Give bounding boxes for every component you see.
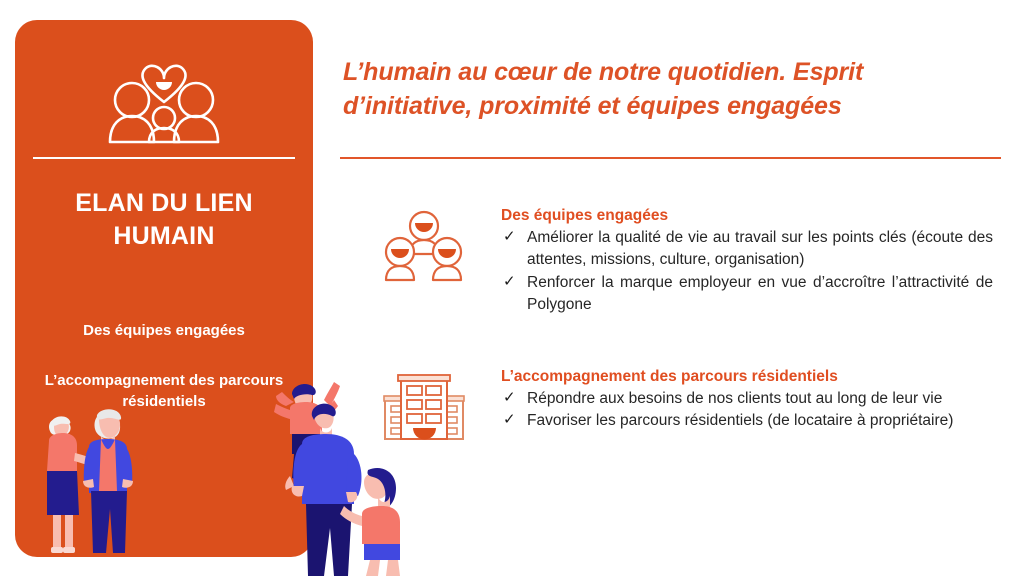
- header-divider: [340, 157, 1001, 159]
- content-block-body: Des équipes engagées ✓ Améliorer la qual…: [483, 206, 993, 316]
- family-heart-icon: [15, 42, 313, 146]
- slide-canvas: ELAN DU LIEN HUMAIN Des équipes engagées…: [0, 0, 1024, 576]
- list-item: ✓ Renforcer la marque employeur en vue d…: [501, 272, 993, 317]
- sidebar-card: ELAN DU LIEN HUMAIN Des équipes engagées…: [15, 20, 313, 557]
- list-item-text: Renforcer la marque employeur en vue d’a…: [527, 274, 993, 313]
- content-block-body: L’accompagnement des parcours résidentie…: [483, 367, 993, 433]
- sidebar-title: ELAN DU LIEN HUMAIN: [41, 187, 287, 254]
- sidebar-subtitle-1: Des équipes engagées: [35, 322, 293, 339]
- check-icon: ✓: [503, 271, 516, 293]
- section-title-teams: Des équipes engagées: [501, 206, 993, 226]
- three-people-team-icon: [383, 206, 483, 293]
- bullet-list-teams: ✓ Améliorer la qualité de vie au travail…: [501, 227, 993, 316]
- list-item-text: Améliorer la qualité de vie au travail s…: [527, 229, 993, 268]
- check-icon: ✓: [503, 409, 516, 431]
- list-item: ✓ Répondre aux besoins de nos clients to…: [501, 388, 993, 410]
- section-title-housing: L’accompagnement des parcours résidentie…: [501, 367, 993, 387]
- content-block-housing: L’accompagnement des parcours résidentie…: [383, 367, 993, 448]
- list-item-text: Répondre aux besoins de nos clients tout…: [527, 390, 942, 407]
- elderly-couple-illustration: [27, 397, 172, 557]
- list-item-text: Favoriser les parcours résidentiels (de …: [527, 412, 953, 429]
- sidebar-divider: [33, 157, 295, 159]
- check-icon: ✓: [503, 226, 516, 248]
- list-item: ✓ Améliorer la qualité de vie au travail…: [501, 227, 993, 272]
- list-item: ✓ Favoriser les parcours résidentiels (d…: [501, 410, 993, 432]
- page-title: L’humain au cœur de notre quotidien. Esp…: [343, 55, 955, 123]
- check-icon: ✓: [503, 387, 516, 409]
- bullet-list-housing: ✓ Répondre aux besoins de nos clients to…: [501, 388, 993, 433]
- content-block-teams: Des équipes engagées ✓ Améliorer la qual…: [383, 206, 993, 316]
- father-with-children-illustration: [272, 378, 400, 576]
